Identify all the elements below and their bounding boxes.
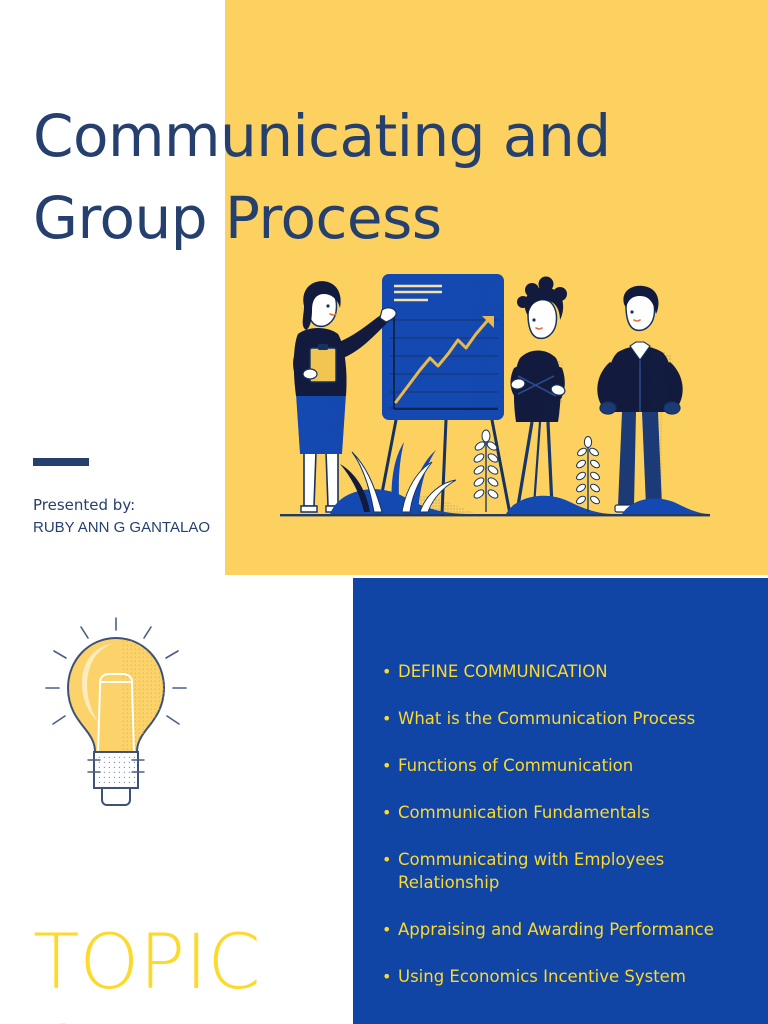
list-item[interactable]: •Communication Fundamentals (382, 801, 752, 824)
lightbulb-icon (38, 616, 194, 808)
man-crossed-arms (510, 277, 567, 513)
slide-topic-outline[interactable]: TOPIC OUTLINE •DEFINE COMMUNICATION•What… (0, 578, 768, 1024)
slide-title[interactable]: Communicating and Group Process Presente… (0, 0, 768, 578)
list-item-label: Functions of Communication (398, 754, 752, 777)
page-title: Communicating and Group Process (33, 95, 733, 259)
presentation-deck: Communicating and Group Process Presente… (0, 0, 768, 1024)
list-item-label: DEFINE COMMUNICATION (398, 660, 752, 683)
list-item-label: Communication Fundamentals (398, 801, 752, 824)
business-team-presentation-illustration (270, 262, 720, 524)
presenter-name: RUBY ANN G GANTALAO (33, 517, 210, 538)
bullet-marker-icon: • (382, 660, 398, 683)
list-item-label: Appraising and Awarding Performance (398, 918, 752, 941)
bullet-marker-icon: • (382, 754, 398, 777)
presenter-woman (293, 281, 396, 512)
list-item[interactable]: •Functions of Communication (382, 754, 752, 777)
list-item[interactable]: •What is the Communication Process (382, 707, 752, 730)
bullet-marker-icon: • (382, 848, 398, 871)
man-hands-on-hips (597, 286, 682, 512)
topic-outline-heading: TOPIC OUTLINE (33, 916, 363, 1024)
title-divider-rule (33, 458, 89, 466)
bullet-marker-icon: • (382, 965, 398, 988)
list-item[interactable]: •Communicating with Employees Relationsh… (382, 848, 752, 894)
bullet-marker-icon: • (382, 707, 398, 730)
list-item-label: Communicating with Employees Relationshi… (398, 848, 752, 894)
topic-outline-list: •DEFINE COMMUNICATION•What is the Commun… (382, 660, 752, 1012)
list-item-label: What is the Communication Process (398, 707, 752, 730)
list-item-label: Using Economics Incentive System (398, 965, 752, 988)
list-item[interactable]: •DEFINE COMMUNICATION (382, 660, 752, 683)
bullet-marker-icon: • (382, 801, 398, 824)
list-item[interactable]: •Appraising and Awarding Performance (382, 918, 752, 941)
presented-by-label: Presented by: (33, 495, 135, 516)
bullet-marker-icon: • (382, 918, 398, 941)
list-item[interactable]: •Using Economics Incentive System (382, 965, 752, 988)
